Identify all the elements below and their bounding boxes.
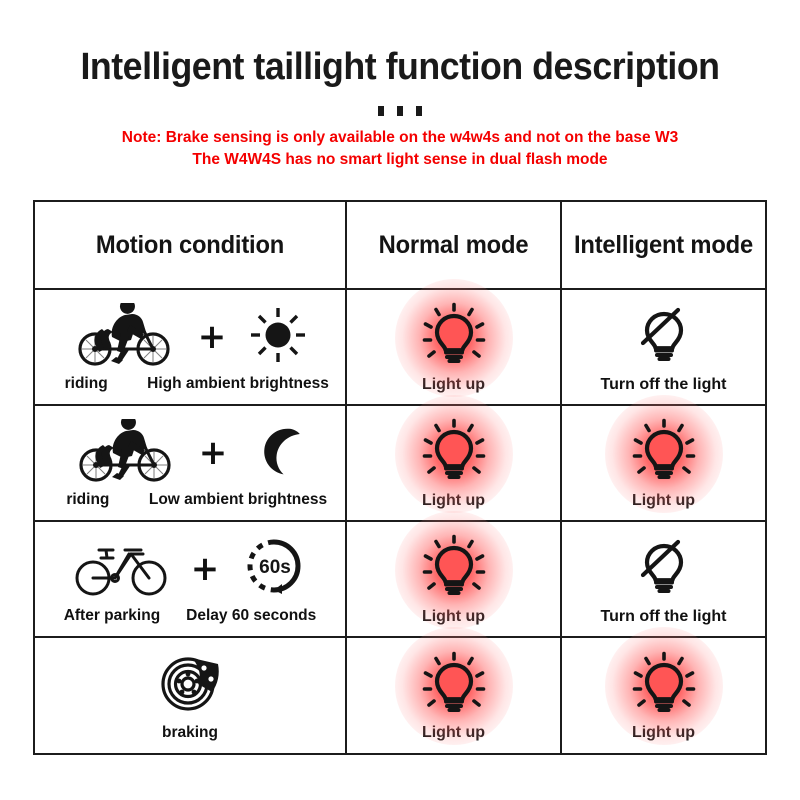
normal-mode-icon-slot: [421, 649, 487, 723]
normal-mode-label: Light up: [422, 492, 485, 510]
lightbulb-on-icon: [421, 418, 487, 489]
condition-icons: + 60s: [73, 533, 308, 605]
note-block: Note: Brake sensing is only available on…: [0, 127, 800, 171]
intelligent-mode-icon-slot: [631, 533, 697, 607]
condition-label-a: riding: [51, 375, 121, 393]
normal-mode-icon-slot: [421, 301, 487, 375]
plus-operator: +: [198, 320, 227, 354]
table-row: +: [34, 289, 766, 405]
timer-value-text: 60s: [259, 557, 291, 578]
lightbulb-off-icon: [631, 302, 697, 373]
cell-intelligent-mode: Turn off the light: [561, 289, 766, 405]
condition-label-b: High ambient brightness: [147, 375, 329, 393]
cell-condition: + 60s After parking Delay 60 se: [34, 521, 346, 637]
page-title: Intelligent taillight function descripti…: [24, 0, 776, 89]
cell-intelligent-mode: Light up: [561, 637, 766, 754]
column-header-intelligent-mode: Intelligent mode: [566, 201, 761, 289]
lightbulb-on-icon: [421, 534, 487, 605]
intelligent-mode-icon-slot: [631, 649, 697, 723]
normal-mode-label: Light up: [422, 608, 485, 626]
table-row: + 60s After parking Delay 60 se: [34, 521, 766, 637]
moon-icon: [249, 422, 307, 485]
condition-label-b: Low ambient brightness: [149, 491, 327, 509]
condition-label-a: braking: [162, 724, 218, 742]
cell-condition: +: [34, 289, 346, 405]
table-row: braking: [34, 637, 766, 754]
lightbulb-on-icon: [421, 651, 487, 722]
note-line-2: The W4W4S has no smart light sense in du…: [0, 149, 800, 171]
lightbulb-off-icon: [631, 534, 697, 605]
cell-condition: braking: [34, 637, 346, 754]
function-matrix-table-wrapper: Motion condition Normal mode Intelligent…: [33, 200, 765, 752]
divider-dot-icon: [416, 106, 422, 116]
plus-operator: +: [191, 552, 220, 586]
cell-normal-mode: Light up: [346, 405, 561, 521]
sun-icon: [248, 305, 308, 370]
lightbulb-on-icon: [631, 651, 697, 722]
cyclist-riding-icon: [72, 303, 176, 372]
cyclist-riding-icon: [73, 419, 177, 488]
note-line-1: Note: Brake sensing is only available on…: [0, 127, 800, 149]
condition-label-b: Delay 60 seconds: [186, 607, 316, 625]
condition-labels: After parking Delay 60 seconds: [64, 607, 317, 625]
condition-icons: +: [72, 301, 309, 373]
table-row: + riding Low ambient brightness: [34, 405, 766, 521]
intelligent-mode-label: Turn off the light: [601, 608, 727, 626]
condition-icons: [154, 650, 226, 722]
cell-intelligent-mode: Turn off the light: [561, 521, 766, 637]
intelligent-mode-label: Light up: [632, 724, 695, 742]
column-header-normal-mode: Normal mode: [351, 201, 555, 289]
condition-label-a: riding: [53, 491, 123, 509]
lightbulb-on-icon: [631, 418, 697, 489]
column-header-motion-condition: Motion condition: [42, 201, 338, 289]
cell-normal-mode: Light up: [346, 289, 561, 405]
plus-operator: +: [199, 436, 228, 470]
intelligent-mode-label: Light up: [632, 492, 695, 510]
intelligent-mode-icon-slot: [631, 301, 697, 375]
intelligent-mode-label: Turn off the light: [601, 376, 727, 394]
cell-intelligent-mode: Light up: [561, 405, 766, 521]
divider-dot-icon: [378, 106, 384, 116]
condition-label-a: After parking: [64, 607, 160, 625]
normal-mode-icon-slot: [421, 533, 487, 607]
normal-mode-label: Light up: [422, 376, 485, 394]
condition-labels: braking: [162, 724, 218, 742]
normal-mode-label: Light up: [422, 724, 485, 742]
condition-icons: +: [73, 417, 308, 489]
condition-labels: riding High ambient brightness: [51, 375, 329, 393]
intelligent-mode-icon-slot: [631, 417, 697, 491]
cell-normal-mode: Light up: [346, 521, 561, 637]
normal-mode-icon-slot: [421, 417, 487, 491]
condition-labels: riding Low ambient brightness: [53, 491, 327, 509]
cell-normal-mode: Light up: [346, 637, 561, 754]
divider-dots: [0, 106, 800, 116]
table-header-row: Motion condition Normal mode Intelligent…: [34, 201, 766, 289]
brake-disc-icon: [154, 650, 226, 721]
function-matrix-table: Motion condition Normal mode Intelligent…: [33, 200, 767, 755]
lightbulb-on-icon: [421, 302, 487, 373]
cell-condition: + riding Low ambient brightness: [34, 405, 346, 521]
timer-60s-icon: 60s: [241, 536, 307, 603]
parked-bicycle-icon: [73, 538, 169, 601]
divider-dot-icon: [397, 106, 403, 116]
